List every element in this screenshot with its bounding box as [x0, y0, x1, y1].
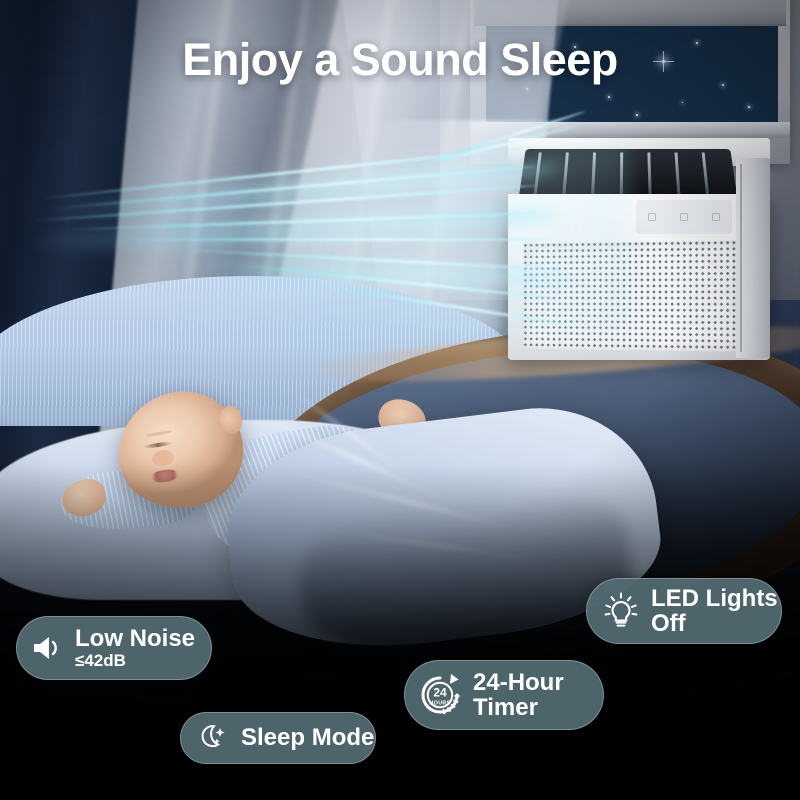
badge-subtitle: Off [651, 611, 778, 636]
ac-front-grille [524, 241, 739, 352]
page-title: Enjoy a Sound Sleep [0, 34, 800, 86]
ac-control-panel[interactable] [636, 200, 732, 234]
ac-side-seam [740, 164, 742, 352]
moon-sparkle-icon [197, 722, 229, 754]
speaker-icon [31, 634, 63, 662]
badge-title: Low Noise [75, 626, 195, 651]
timer-icon-number: 24 [433, 685, 447, 699]
air-conditioner-unit [508, 138, 770, 360]
badge-sleep-mode[interactable]: Sleep Mode [180, 712, 376, 764]
badge-subtitle: ≤42dB [75, 651, 195, 670]
badge-title: LED Lights [651, 586, 778, 611]
badge-24-hour-timer[interactable]: 24 HOURS 24-Hour Timer [404, 660, 604, 730]
promo-image: Enjoy a Sound Sleep Low Noise ≤42dB Slee… [0, 0, 800, 800]
badge-title: 24-Hour [473, 670, 564, 695]
badge-led-lights-off[interactable]: LED Lights Off [586, 578, 782, 644]
badge-low-noise[interactable]: Low Noise ≤42dB [16, 616, 212, 680]
timer-icon-unit: HOURS [430, 700, 451, 706]
24-hour-clock-icon: 24 HOURS [417, 672, 463, 718]
badge-subtitle: Timer [473, 695, 564, 720]
lightbulb-icon [601, 590, 641, 632]
badge-title: Sleep Mode [241, 725, 374, 750]
